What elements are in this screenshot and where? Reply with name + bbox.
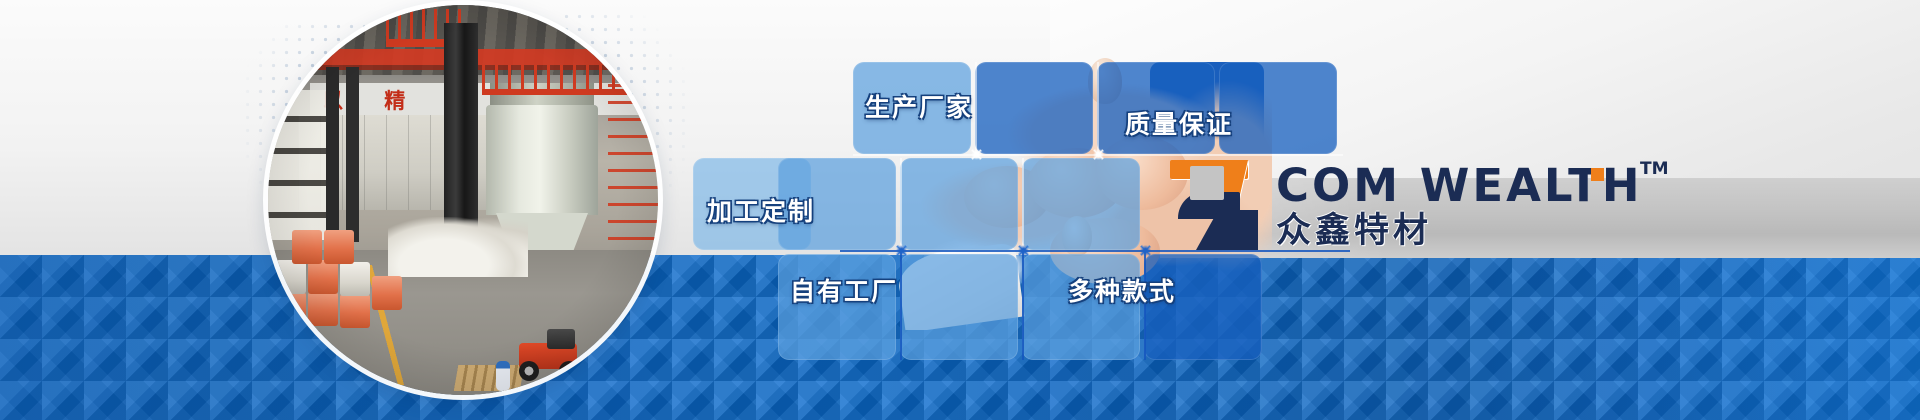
promo-banner: 以 精 立 业 — [0, 0, 1920, 420]
grid-node — [895, 244, 908, 257]
logo-navy-z-shape — [1178, 192, 1258, 250]
grid-line-v-b — [1097, 62, 1099, 154]
logo-text-lockup: COM WEALTH TM 众鑫特材 — [1276, 163, 1643, 250]
grid-line-v-e — [1022, 250, 1024, 360]
tile-production-b[interactable] — [975, 62, 1093, 154]
tile-middle-row-a[interactable] — [1022, 158, 1140, 250]
tile-quality-b[interactable] — [1219, 62, 1337, 154]
logo-english-text: COM WEALTH — [1276, 159, 1643, 212]
logo-orange-accent-square — [1591, 168, 1604, 181]
grid-node — [1017, 244, 1030, 257]
tile-ownfactory-b[interactable] — [900, 254, 1018, 360]
grid-node — [1092, 148, 1105, 161]
logo-english-name: COM WEALTH TM — [1276, 163, 1643, 208]
logo-negative-space — [1190, 166, 1224, 200]
tile-label-ownfactory: 自有工厂 — [790, 272, 898, 308]
tile-label-quality: 质量保证 — [1125, 105, 1233, 141]
factory-interior-photo: 以 精 立 业 — [268, 5, 658, 395]
grid-line-v-a — [975, 62, 977, 154]
tile-label-styles: 多种款式 — [1068, 272, 1176, 308]
photo-vignette — [268, 5, 658, 395]
tile-custom-c[interactable] — [900, 158, 1018, 250]
grid-node — [970, 148, 983, 161]
tile-label-production: 生产厂家 — [865, 88, 973, 124]
grid-line-v-d — [1022, 158, 1024, 250]
grid-node — [1139, 244, 1152, 257]
factory-photo-image: 以 精 立 业 — [268, 5, 658, 395]
logo-trademark-symbol: TM — [1640, 161, 1669, 178]
grid-line-v-g — [900, 250, 902, 360]
brand-logo[interactable]: COM WEALTH TM 众鑫特材 — [1168, 150, 1643, 258]
tile-label-custom: 加工定制 — [707, 192, 815, 228]
logo-chinese-name: 众鑫特材 — [1276, 213, 1643, 250]
grid-line-v-c — [900, 158, 902, 250]
comwealth-z-monogram-icon — [1168, 156, 1260, 252]
